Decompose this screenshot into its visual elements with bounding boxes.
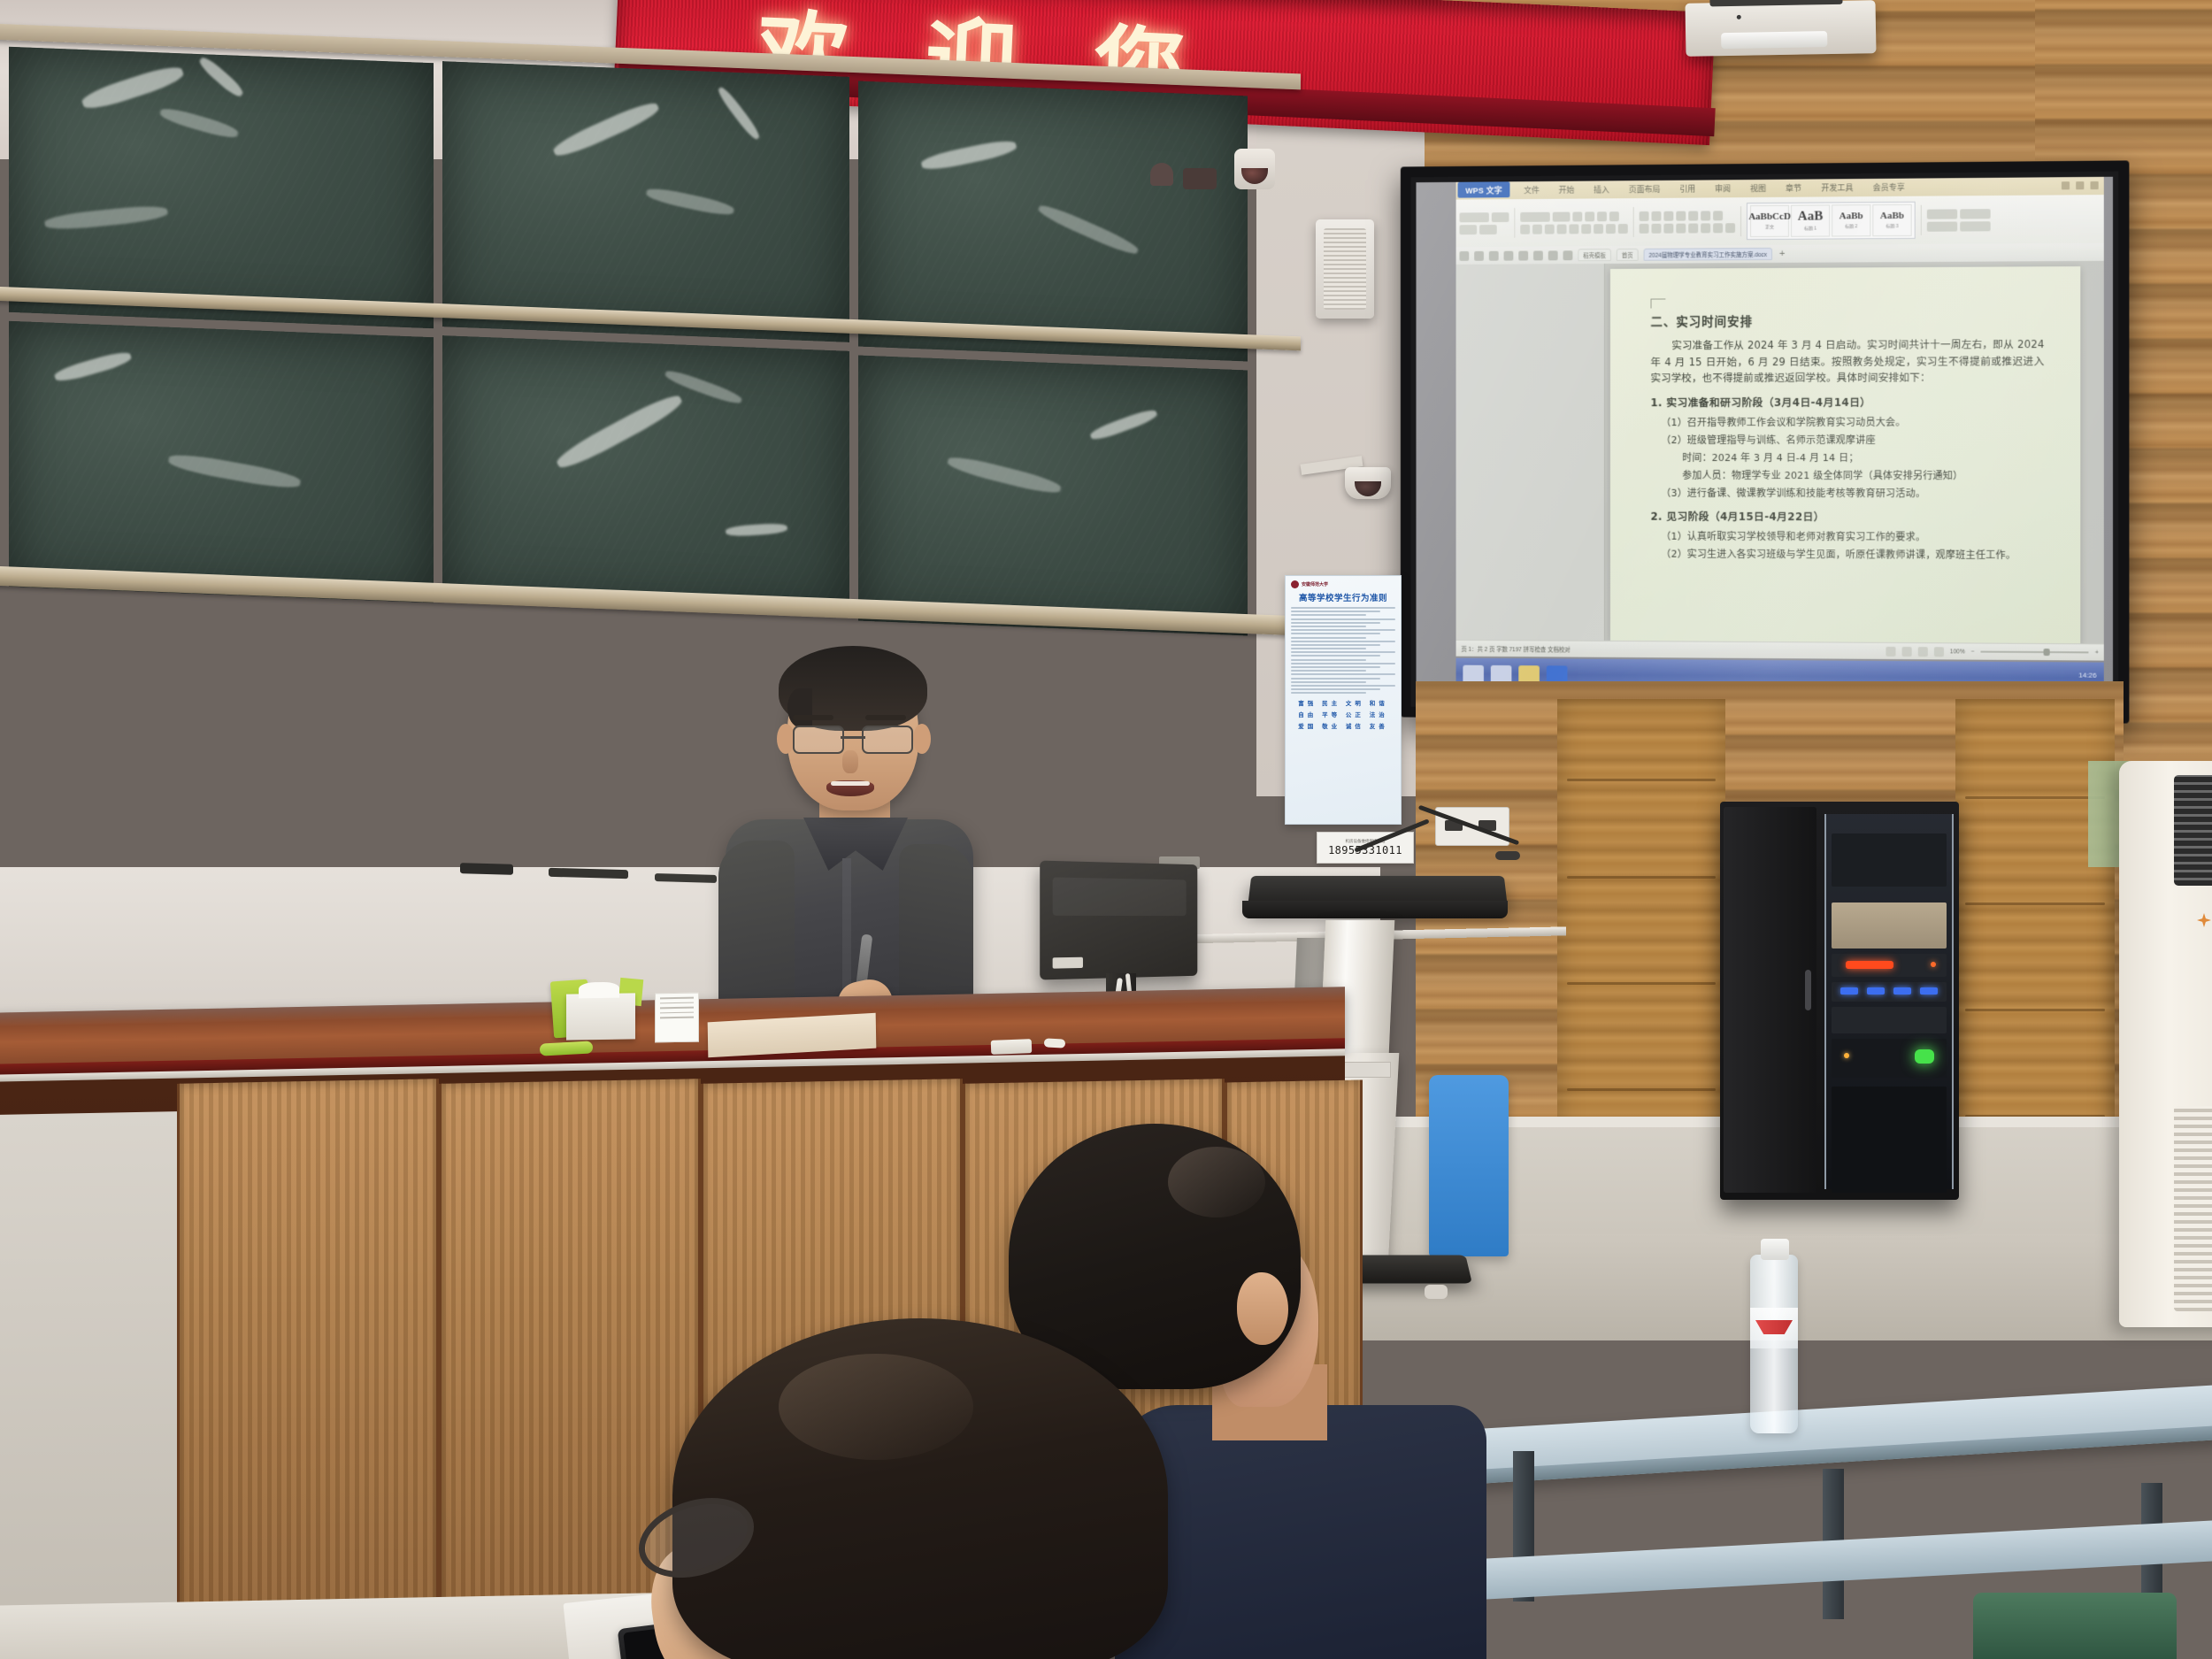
core-value-line-2: 爱国 敬业 诚信 友善 [1298,721,1387,730]
student-with-glasses-seated [672,1318,1203,1659]
doc-item-0-3: 参加人员：物理学专业 2021 级全体同学（具体安排另行通知） [1651,468,2045,484]
page-corner-mark [1651,298,1666,308]
numbered-list-icon[interactable] [1652,211,1662,220]
bottle-cap [1761,1239,1789,1260]
ceiling-projector [1685,0,1876,57]
copy-icon[interactable] [1459,225,1477,234]
zoom-out-button[interactable]: − [1971,649,1975,655]
poster-org-name: 安徽师范大学 [1302,581,1328,588]
rack-port-led-2 [1867,987,1885,995]
paste-icon[interactable] [1459,212,1488,222]
monitor-spec-label [1053,957,1083,969]
styles-pane-icon[interactable] [1927,209,1957,219]
poster-university-logo: 安徽师范大学 [1291,580,1395,588]
equipment-rack[interactable] [1720,802,1959,1200]
align-left-icon[interactable] [1640,223,1649,233]
justify-icon[interactable] [1676,223,1686,233]
student-b-hair [672,1318,1168,1659]
wps-writer-window[interactable]: WPS 文字 文件 开始 插入 页面布局 引用 审阅 视图 章节 开发工具 会员… [1456,177,2104,661]
grow-font-icon[interactable] [1572,211,1582,221]
zoom-slider[interactable] [1981,651,2089,654]
clipboard-group[interactable] [1459,205,1509,241]
core-value-line-0: 富强 民主 文明 和谐 [1298,698,1387,707]
align-center-icon[interactable] [1652,223,1662,233]
rack-door-handle[interactable] [1805,970,1811,1010]
lecturer-ear-right [913,724,931,754]
rack-unit-controller[interactable] [1832,954,1947,977]
chalkboard-tray-eraser [460,863,513,875]
dome-camera-lens [1241,168,1268,184]
navigation-pane[interactable] [1456,264,1605,641]
chalkboard-panel-1 [9,47,434,328]
distribute-icon[interactable] [1688,223,1698,233]
style-card-heading1[interactable]: AaB 标题 1 [1791,204,1830,236]
decrease-indent-icon[interactable] [1676,211,1686,220]
chalkboard-tray-item-2 [655,873,717,883]
undo-icon[interactable] [1533,250,1543,260]
menu-item-3[interactable]: 页面布局 [1629,182,1661,194]
blackboard-eraser [991,1039,1033,1055]
ptz-camera-mount [1183,168,1217,189]
rack-unit-blank [1832,833,1947,887]
desk-left-panel [0,1111,177,1646]
subscript-icon[interactable] [1569,224,1578,234]
lectern-tray [1242,901,1508,918]
zoom-slider-handle[interactable] [2043,649,2049,656]
lecturer-eyebrow-right [865,715,906,720]
table-card [655,993,699,1043]
rack-unit-amplifier[interactable] [1832,902,1947,949]
highlight-icon[interactable] [1606,224,1616,234]
chalkboard-panel-4 [9,321,434,603]
menu-item-0[interactable]: 文件 [1524,184,1540,196]
style-label-2: 标题 2 [1845,223,1857,229]
monitor-back-vent [1053,878,1187,917]
doc-item-1-0: （1）认真听取实习学校领导和老师对教育实习工作的要求。 [1651,529,2045,545]
select-group[interactable] [1960,202,1990,238]
wall-camera [1345,467,1391,499]
menu-item-6[interactable]: 视图 [1750,181,1766,193]
lecturer-eyebrow-left [793,715,833,720]
rack-unit-cabling [1832,1087,1947,1193]
clear-format-icon[interactable] [1597,211,1607,221]
style-preview-1: AaB [1798,210,1823,223]
style-card-normal[interactable]: AaBbCcD 正文 [1750,205,1789,237]
font-group[interactable] [1520,204,1627,241]
chalkboard-panel-6 [858,356,1248,636]
redo-icon[interactable] [1548,250,1558,260]
dome-camera [1234,149,1275,189]
style-label-3: 标题 3 [1886,223,1898,229]
view-web-layout-icon[interactable] [1918,647,1928,657]
view-outline-icon[interactable] [1934,647,1944,657]
rack-glass-front[interactable] [1824,814,1954,1189]
shading-icon[interactable] [1713,223,1723,233]
style-label-0: 正文 [1765,224,1774,230]
eyeglasses-icon [793,726,913,752]
close-icon[interactable] [2090,180,2098,188]
core-value-line-1: 自由 平等 公正 法治 [1298,710,1387,718]
rack-port-led-4 [1920,987,1938,995]
student-code-of-conduct-poster: 安徽师范大学 高等学校学生行为准则 富强 民主 文明 和谐 自由 平等 公正 法… [1285,575,1402,825]
zoom-in-button[interactable]: + [2095,649,2099,656]
font-family-select[interactable] [1520,211,1550,221]
rack-active-led-green [1915,1049,1934,1064]
lecturer-mouth-speaking [826,780,874,796]
tab-template-store[interactable]: 稻壳模板 [1578,249,1611,261]
menu-item-8[interactable]: 开发工具 [1821,181,1853,193]
rack-port-led-1 [1840,987,1858,995]
tissue-box [566,993,635,1040]
doc-item-0-2: 时间：2024 年 3 月 4 日-4 月 14 日； [1651,450,2045,465]
wps-menu-icon[interactable] [1459,250,1469,260]
font-color-icon[interactable] [1618,224,1628,234]
strikethrough-icon[interactable] [1557,224,1567,234]
save-icon[interactable] [1474,250,1484,260]
ptz-camera-body [1150,163,1173,186]
wps-app-logo: WPS 文字 [1458,181,1510,197]
find-replace-icon[interactable] [1927,221,1957,231]
menu-item-9[interactable]: 会员专享 [1872,180,1904,192]
student-chair[interactable] [1973,1593,2177,1659]
line-spacing-icon[interactable] [1701,223,1710,233]
editing-group[interactable] [1927,202,1957,237]
status-left-text: 页 1：共 2 页 字数 7197 拼写检查 文档校对 [1461,644,1570,654]
format-painter-icon[interactable] [1479,225,1497,234]
ac-lower-grill [2174,1106,2212,1311]
style-preview-3: AaBb [1880,211,1904,221]
rack-status-led-red [1846,961,1893,969]
university-crest-icon [1291,580,1299,588]
lecturer-ear-left [777,724,795,754]
wps-menu-bar[interactable]: 文件 开始 插入 页面布局 引用 审阅 视图 章节 开发工具 会员专享 [1524,180,1905,195]
clock-time: 14:26 [2078,672,2096,680]
multilevel-list-icon[interactable] [1663,211,1673,220]
text-effect-icon[interactable] [1594,224,1603,234]
projection-screen: WPS 文字 文件 开始 插入 页面布局 引用 审阅 视图 章节 开发工具 会员… [1401,160,2129,723]
rack-power-led [1931,962,1936,967]
bottle-label [1750,1308,1798,1348]
student-a-ear [1237,1272,1288,1345]
style-card-heading3[interactable]: AaBb 标题 3 [1872,204,1911,236]
wps-status-bar[interactable]: 页 1：共 2 页 字数 7197 拼写检查 文档校对 100% − + [1456,640,2104,661]
wps-document-body[interactable]: 二、实习时间安排 实习准备工作从 2024 年 3 月 4 日启动。实习时间共计… [1456,261,2104,645]
rack-warn-led [1844,1053,1849,1058]
ribbon-divider-2 [1633,207,1634,237]
doc-item-1-1: （2）实习生进入各实习班级与学生见面，听原任课教师讲课，观摩班主任工作。 [1651,547,2045,564]
underline-icon[interactable] [1545,224,1555,234]
sort-icon[interactable] [1701,211,1710,220]
classroom-photo-scene: 欢迎您 [0,0,2212,1659]
style-preview-0: AaBbCcD [1748,212,1791,222]
desk-cabinet-1[interactable] [177,1079,439,1615]
doc-item-0-0: （1）召开指导教师工作会议和学院教育实习动员大会。 [1651,415,2045,430]
menu-item-2[interactable]: 插入 [1594,183,1609,195]
doc-heading: 二、实习时间安排 [1651,311,2045,330]
bullet-list-icon[interactable] [1640,211,1649,220]
blue-bag [1429,1075,1509,1256]
bold-icon[interactable] [1520,224,1530,234]
doc-item-0-1: （2）班级管理指导与训练、名师示范课观摩讲座 [1651,433,2045,448]
font-size-select[interactable] [1553,211,1571,221]
new-doc-icon[interactable] [1518,250,1528,260]
ac-top-vent [2174,775,2212,886]
ribbon-divider-4 [1921,205,1922,235]
doc-section-heading-0: 1. 实习准备和研习阶段（3月4日-4月14日） [1651,394,2045,410]
text-layout-icon[interactable] [1960,221,1990,231]
style-label-1: 标题 1 [1804,226,1816,232]
poster-body-lines [1291,607,1395,694]
print-icon[interactable] [1489,250,1499,260]
italic-icon[interactable] [1532,224,1542,234]
chalkboard-panel-2 [442,61,849,342]
style-card-heading2[interactable]: AaBb 标题 2 [1832,204,1870,236]
style-preview-2: AaBb [1839,211,1863,221]
zoom-level-label: 100% [1950,649,1965,655]
chalk-piece [1044,1038,1065,1048]
floor-standing-ac [2119,761,2212,1327]
wps-ribbon[interactable]: AaBbCcD 正文 AaB 标题 1 AaBb 标题 2 AaBb [1456,195,2104,248]
ribbon-divider-1 [1514,208,1515,238]
poster-title: 高等学校学生行为准则 [1291,591,1395,603]
projector-sensor-icon [1737,15,1741,19]
rack-port-led-3 [1893,987,1911,995]
wall-speaker [1316,219,1374,319]
borders-icon[interactable] [1725,223,1735,233]
projection-surface: WPS 文字 文件 开始 插入 页面布局 引用 审阅 视图 章节 开发工具 会员… [1416,177,2113,707]
menu-item-5[interactable]: 审阅 [1715,182,1731,194]
select-icon[interactable] [1960,209,1990,219]
paragraph-group[interactable] [1640,204,1735,240]
doc-section-heading-1: 2. 见习阶段（4月15日-4月22日） [1651,509,2045,525]
tab-active-document[interactable]: 2024届物理学专业教育实习工作实施方案.docx [1644,248,1772,261]
chalkboard-panel-5 [442,335,849,617]
rack-side-door[interactable] [1724,807,1816,1193]
lecturer-nose [842,750,858,773]
align-right-icon[interactable] [1663,223,1673,233]
ribbon-divider-3 [1740,206,1741,236]
poster-core-values: 富强 民主 文明 和谐 自由 平等 公正 法治 爱国 敬业 诚信 友善 [1291,698,1395,730]
projector-lens [1721,31,1827,49]
water-bottle [1750,1255,1798,1433]
pinyin-icon[interactable] [1609,211,1619,221]
status-right-group[interactable]: 100% − + [1886,646,2098,657]
menu-item-4[interactable]: 引用 [1679,182,1695,194]
tab-home[interactable]: 首页 [1617,249,1639,261]
shrink-font-icon[interactable] [1585,211,1594,221]
show-marks-icon[interactable] [1713,211,1723,220]
increase-indent-icon[interactable] [1688,211,1698,220]
microphone-head [1495,851,1520,860]
student-desk-row-2 [1486,1521,2212,1600]
rack-unit-pdu[interactable] [1832,1007,1947,1033]
preview-icon[interactable] [1504,250,1514,260]
rack-unit-switch[interactable] [1832,982,1947,1002]
ac-brand-icon [2197,913,2211,927]
chalkboard-panel-3 [858,81,1248,362]
view-print-layout-icon[interactable] [1886,646,1895,656]
view-full-screen-icon[interactable] [1901,647,1911,657]
menu-item-7[interactable]: 章节 [1786,181,1801,193]
style-gallery[interactable]: AaBbCcD 正文 AaB 标题 1 AaBb 标题 2 AaBb [1747,202,1916,240]
document-page[interactable]: 二、实习时间安排 实习准备工作从 2024 年 3 月 4 日启动。实习时间共计… [1610,266,2080,644]
doc-paragraph-0: 实习准备工作从 2024 年 3 月 4 日启动。实习时间共计十一周左右，即从 … [1651,336,2045,387]
maximize-icon[interactable] [2076,181,2084,189]
doc-item-0-4: （3）进行备课、微课教学训练和技能考核等教育研习活动。 [1651,486,2045,502]
minimize-icon[interactable] [2062,181,2070,189]
projector-top-plate [1709,0,1842,6]
menu-item-1[interactable]: 开始 [1559,183,1575,195]
rack-unit-server[interactable] [1832,1039,1947,1078]
wall-camera-lens [1355,481,1381,496]
superscript-icon[interactable] [1581,224,1591,234]
new-tab-button[interactable]: + [1779,249,1785,259]
chevron-down-icon[interactable] [1563,250,1573,260]
desktop-monitor[interactable] [1040,861,1197,980]
window-controls[interactable] [2062,180,2099,188]
cut-icon[interactable] [1492,212,1509,222]
